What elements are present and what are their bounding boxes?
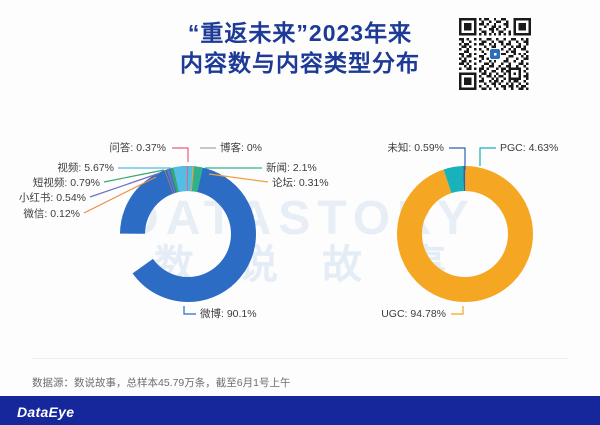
leader-xiaohongshu <box>90 173 160 197</box>
charts-container: 问答: 0.37% 博客: 0% 视频: 5.67% 新闻: 2.1% 短视频:… <box>0 100 600 345</box>
footer-divider <box>32 358 568 359</box>
leader-lines-left <box>0 100 340 345</box>
label-weizhi: 未知: 0.59% <box>330 142 444 154</box>
leader-pgc <box>480 148 496 166</box>
label-xiaohongshu: 小红书: 0.54% <box>0 192 86 204</box>
leader-weizhi <box>449 148 465 170</box>
slide-canvas: DATASTORY 数说故事 “重返未来”2023年来 内容数与内容类型分布 <box>0 0 600 425</box>
bottom-bar <box>0 396 600 425</box>
leader-ugc <box>451 306 463 314</box>
label-boke: 博客: 0% <box>220 142 262 154</box>
label-weibo: 微博: 90.1% <box>200 308 257 320</box>
leader-luntan <box>209 174 268 182</box>
label-wenda: 问答: 0.37% <box>0 142 166 154</box>
label-shipin: 视频: 5.67% <box>0 162 114 174</box>
label-xinwen: 新闻: 2.1% <box>266 162 317 174</box>
qr-code[interactable] <box>459 18 531 90</box>
leader-weibo <box>184 306 196 314</box>
label-duanshipin: 短视频: 0.79% <box>0 177 100 189</box>
label-pgc: PGC: 4.63% <box>500 142 558 154</box>
label-weixin: 微信: 0.12% <box>0 208 80 220</box>
label-luntan: 论坛: 0.31% <box>272 177 329 189</box>
source-note: 数据源：数说故事，总样本45.79万条，截至6月1号上午 <box>32 375 290 390</box>
leader-wenda <box>172 148 188 162</box>
qr-code-image <box>459 18 531 90</box>
dataeye-logo: DataEye <box>17 404 74 420</box>
label-ugc: UGC: 94.78% <box>330 308 446 320</box>
